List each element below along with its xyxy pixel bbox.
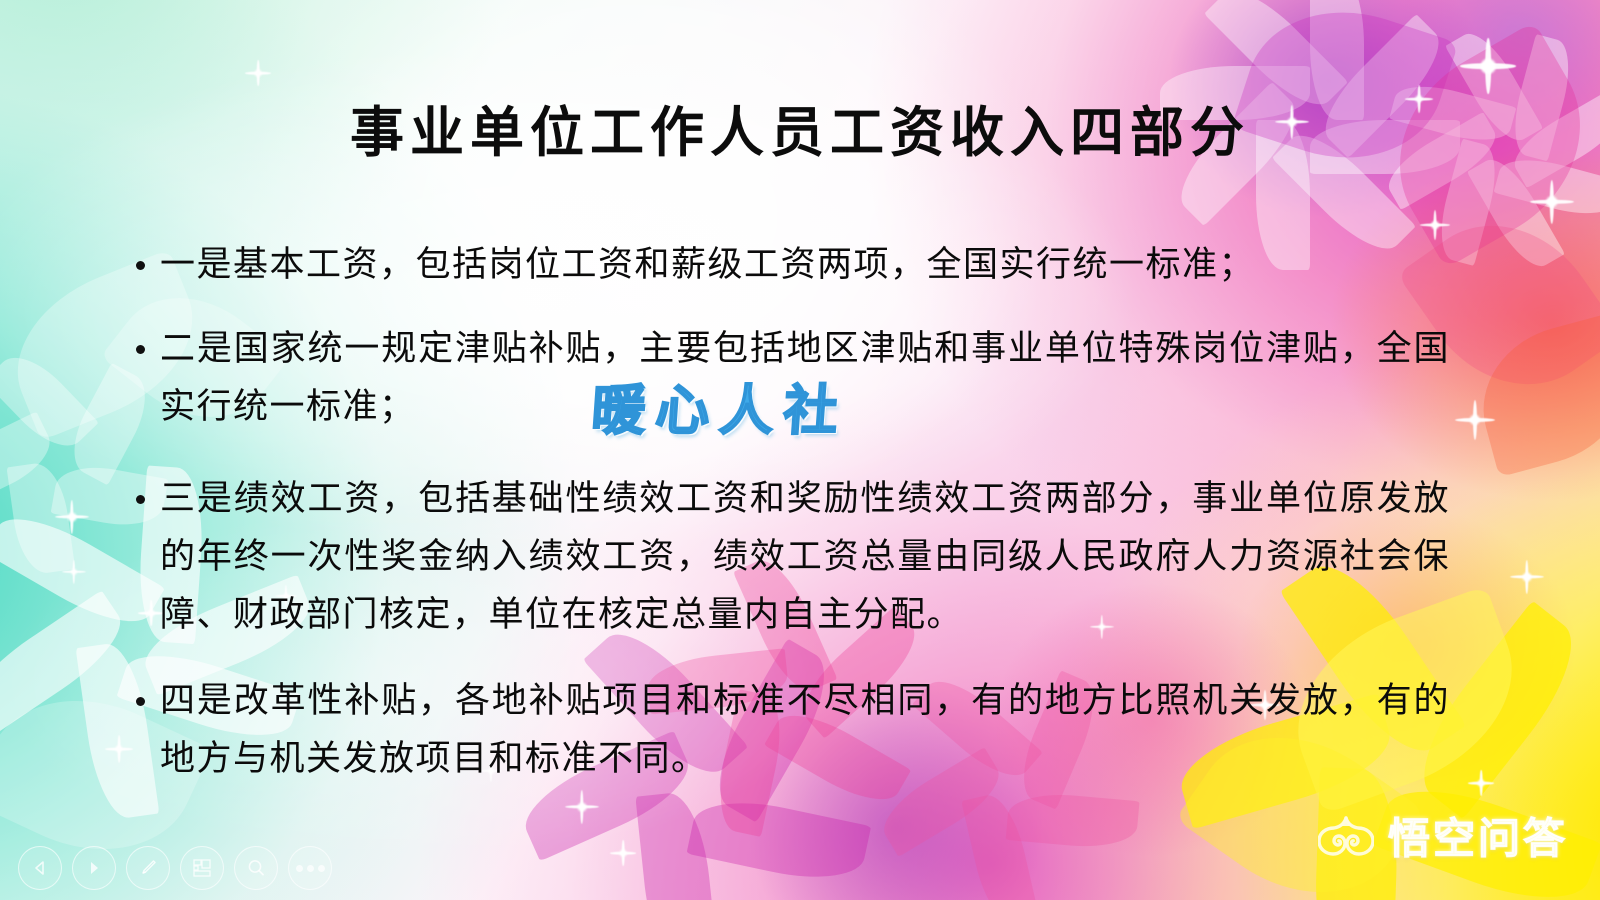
list-item-text: 一是基本工资，包括岗位工资和薪级工资两项，全国实行统一标准；	[160, 245, 1255, 284]
grid-layout-icon	[191, 857, 213, 879]
list-item: 四是改革性补贴，各地补贴项目和标准不尽相同，有的地方比照机关发放，有的地方与机关…	[130, 672, 1450, 788]
triangle-left-icon	[31, 859, 49, 877]
wukong-brand-logo: 悟空问答	[1318, 805, 1568, 866]
triangle-right-icon	[85, 859, 103, 877]
zoom-button[interactable]	[234, 846, 278, 890]
list-item: 一是基本工资，包括岗位工资和薪级工资两项，全国实行统一标准；	[130, 236, 1450, 294]
bullet-dot-icon	[136, 697, 145, 706]
list-item: 三是绩效工资，包括基础性绩效工资和奖励性绩效工资两部分，事业单位原发放的年终一次…	[130, 470, 1450, 644]
more-options-button[interactable]	[288, 846, 332, 890]
magnifier-icon	[245, 857, 267, 879]
page-title: 事业单位工作人员工资收入四部分	[0, 88, 1600, 167]
bullet-list: 一是基本工资，包括岗位工资和薪级工资两项，全国实行统一标准； 二是国家统一规定津…	[130, 236, 1450, 788]
pen-tool-button[interactable]	[126, 846, 170, 890]
next-slide-button[interactable]	[72, 846, 116, 890]
bullet-dot-icon	[136, 345, 145, 354]
bullet-dot-icon	[136, 261, 145, 270]
slide-grid-button[interactable]	[180, 846, 224, 890]
previous-slide-button[interactable]	[18, 846, 62, 890]
list-item-text: 四是改革性补贴，各地补贴项目和标准不尽相同，有的地方比照机关发放，有的地方与机关…	[160, 681, 1450, 778]
wukong-headband-icon	[1318, 816, 1374, 856]
slideshow-toolbar	[18, 846, 332, 890]
slide-content: 事业单位工作人员工资收入四部分 一是基本工资，包括岗位工资和薪级工资两项，全国实…	[0, 0, 1600, 900]
wukong-brand-name: 悟空问答	[1388, 805, 1568, 866]
bullet-dot-icon	[136, 495, 145, 504]
pen-icon	[137, 857, 159, 879]
list-item-text: 三是绩效工资，包括基础性绩效工资和奖励性绩效工资两部分，事业单位原发放的年终一次…	[160, 479, 1450, 634]
presentation-slide: 事业单位工作人员工资收入四部分 一是基本工资，包括岗位工资和薪级工资两项，全国实…	[0, 0, 1600, 900]
three-dots-icon	[296, 865, 325, 872]
watermark-text: 暖心人社	[589, 366, 851, 445]
